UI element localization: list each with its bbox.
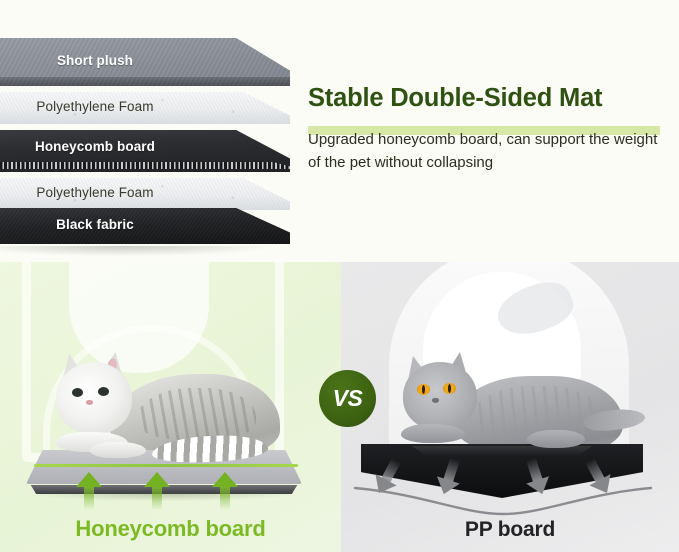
comparison-panel-honeycomb [0,262,341,552]
arrow-up-icon [212,472,238,510]
layer-polyethylene-foam-upper: Polyethylene Foam [0,92,290,124]
cat-paw-second [527,430,585,448]
cat-eye-left [72,388,83,397]
cat-head [56,362,132,434]
cat-nose [432,398,439,403]
layer-label-honeycomb-board: Honeycomb board [0,139,236,154]
cat-eye-left [417,384,430,395]
top-feature-section: Short plush Polyethylene Foam Honeycomb … [0,0,679,262]
layer-polyethylene-foam-lower: Polyethylene Foam [0,178,290,210]
layer-black-fabric: Black fabric [0,208,290,244]
silver-tabby-cat [48,358,280,468]
layer-short-plush: Short plush [0,38,290,86]
layer-label-short-plush: Short plush [0,53,236,68]
layer-stack-diagram: Short plush Polyethylene Foam Honeycomb … [0,30,294,245]
caption-pp-board: PP board [341,518,679,542]
stack-drop-shadow [0,246,272,256]
layer-label-polyethylene-foam-lower: Polyethylene Foam [0,185,236,200]
arrow-down-icon [431,455,466,500]
layer-label-black-fabric: Black fabric [0,217,236,232]
layer-honeycomb-board: Honeycomb board [0,130,290,172]
arrow-down-icon [519,455,554,500]
arrow-down-icon [579,455,619,502]
layer-label-polyethylene-foam-upper: Polyethylene Foam [0,99,236,114]
cat-eye-right [443,383,456,394]
honeycomb-cells-texture [0,162,290,169]
comparison-panel-pp-board [341,262,679,552]
layer-edge-shade [0,77,290,86]
product-feature-image: Short plush Polyethylene Foam Honeycomb … [0,0,679,552]
page-title: Stable Double-Sided Mat [308,84,602,112]
cat-nose [86,400,93,405]
cat-eye-right [98,387,109,396]
vs-label: VS [333,387,363,410]
feature-description: Upgraded honeycomb board, can support th… [308,129,660,175]
cat-head [403,362,477,430]
upward-support-arrows [76,470,246,510]
arrow-up-icon [144,472,170,510]
support-line-green [34,464,298,467]
cat-paw-second [90,442,146,458]
comparison-section: VS Honeycomb board PP board [0,262,679,552]
vs-badge: VS [319,370,376,427]
downward-pressure-arrows [375,458,625,504]
caption-honeycomb-board: Honeycomb board [0,516,341,542]
feature-copy-block: Stable Double-Sided Mat Upgraded honeyco… [308,84,668,175]
cat-paw-front [401,424,465,443]
arrow-up-icon [76,472,102,510]
